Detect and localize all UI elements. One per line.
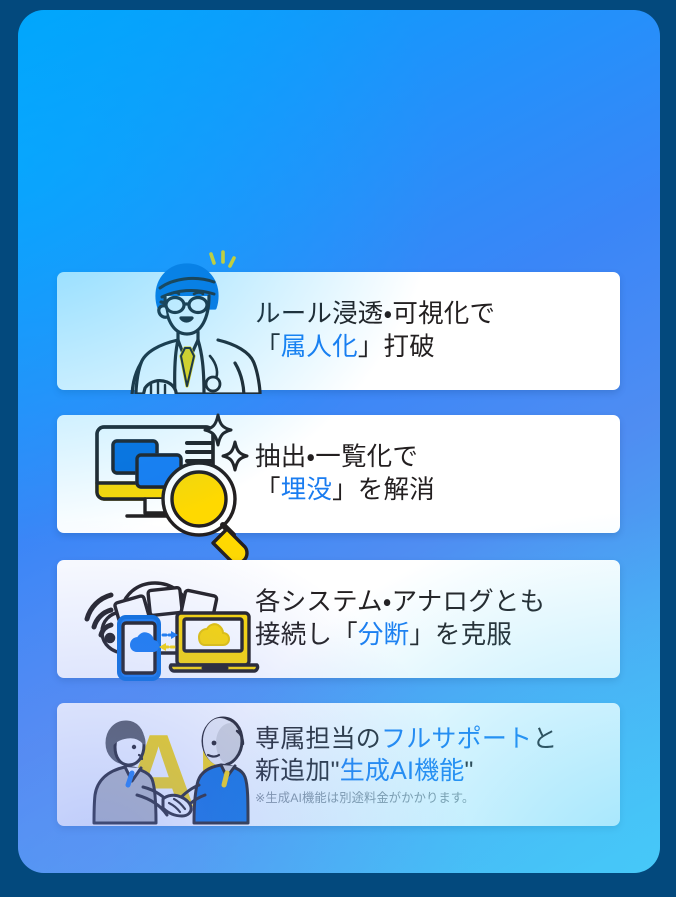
- card-line-2: 「埋没」を解消: [255, 474, 435, 507]
- card-line-2: 「属人化」打破: [255, 331, 495, 364]
- feature-card-extract[interactable]: 抽出・一覧化で 「埋没」を解消: [57, 415, 620, 533]
- feature-card-support[interactable]: AI: [57, 703, 620, 826]
- highlight-term: 属人化: [281, 333, 358, 361]
- screenshot-root: ルール浸透・可視化で 「属人化」打破: [0, 0, 676, 897]
- monitor-magnifier-icon: [57, 415, 247, 533]
- highlight-term: 埋没: [281, 476, 332, 504]
- feature-card-rule[interactable]: ルール浸透・可視化で 「属人化」打破: [57, 272, 620, 390]
- card-line-1: 抽出・一覧化で: [255, 441, 435, 474]
- ai-watermark-text: AI: [121, 714, 225, 826]
- card-line-1: ルール浸透・可視化で: [255, 298, 495, 331]
- highlight-term: 分断: [358, 621, 409, 649]
- card-line-2: 新追加"生成AI機能": [255, 755, 557, 788]
- card-line-2: 接続し「分断」を克服: [255, 619, 545, 652]
- highlight-term: フルサポート: [381, 725, 532, 753]
- card-text: 各システム・アナログとも 接続し「分断」を克服: [255, 586, 545, 652]
- card-text: ルール浸透・可視化で 「属人化」打破: [255, 298, 495, 364]
- cloud-devices-icon: [57, 560, 247, 678]
- feature-card-connect[interactable]: 各システム・アナログとも 接続し「分断」を克服: [57, 560, 620, 678]
- card-text: 専属担当のフルサポートと 新追加"生成AI機能" ※生成AI機能は別途料金がかか…: [255, 723, 557, 807]
- card-line-1: 専属担当のフルサポートと: [255, 723, 557, 756]
- card-note: ※生成AI機能は別途料金がかかります。: [255, 791, 557, 807]
- doctor-with-glasses-icon: [57, 272, 247, 390]
- card-line-1: 各システム・アナログとも: [255, 586, 545, 619]
- card-text: 抽出・一覧化で 「埋没」を解消: [255, 441, 435, 507]
- blue-gradient-panel: ルール浸透・可視化で 「属人化」打破: [18, 10, 660, 873]
- highlight-term: 生成AI機能: [340, 757, 465, 785]
- handshake-ai-icon: AI: [57, 703, 247, 826]
